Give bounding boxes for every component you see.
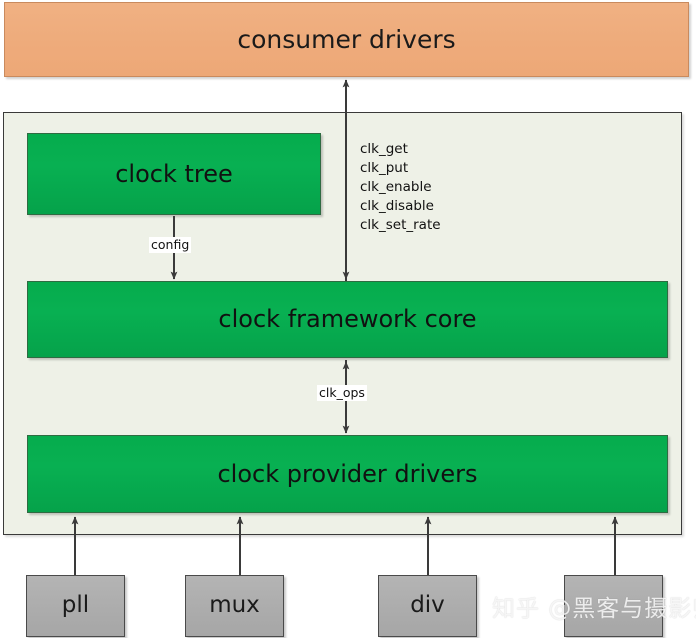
hardware-block-div: div (378, 575, 477, 637)
hardware-block-mux-label: mux (209, 593, 260, 618)
consumer-drivers-box: consumer drivers (4, 2, 689, 77)
clock-framework-core-label: clock framework core (218, 306, 476, 332)
clock-provider-drivers-label: clock provider drivers (217, 461, 477, 487)
clock-provider-drivers-box: clock provider drivers (27, 435, 668, 513)
hardware-block-pll: pll (26, 575, 125, 637)
hardware-block-div-label: div (410, 593, 445, 618)
clock-framework-diagram: consumer drivers clock tree clock framew… (0, 0, 696, 638)
api-item-clk-put: clk_put (360, 159, 441, 178)
clock-framework-core-box: clock framework core (27, 281, 668, 358)
consumer-api-list: clk_get clk_put clk_enable clk_disable c… (360, 140, 441, 235)
edge-label-config: config (149, 237, 191, 253)
api-item-clk-enable: clk_enable (360, 178, 441, 197)
api-item-clk-get: clk_get (360, 140, 441, 159)
api-item-clk-set-rate: clk_set_rate (360, 216, 441, 235)
hardware-block-pll-label: pll (62, 593, 89, 618)
api-item-clk-disable: clk_disable (360, 197, 441, 216)
clock-tree-box: clock tree (27, 133, 321, 215)
consumer-drivers-label: consumer drivers (237, 26, 455, 54)
edge-label-clk-ops: clk_ops (317, 385, 367, 401)
hardware-block-obscured (564, 575, 663, 637)
hardware-block-mux: mux (185, 575, 284, 637)
clock-tree-label: clock tree (115, 161, 233, 187)
